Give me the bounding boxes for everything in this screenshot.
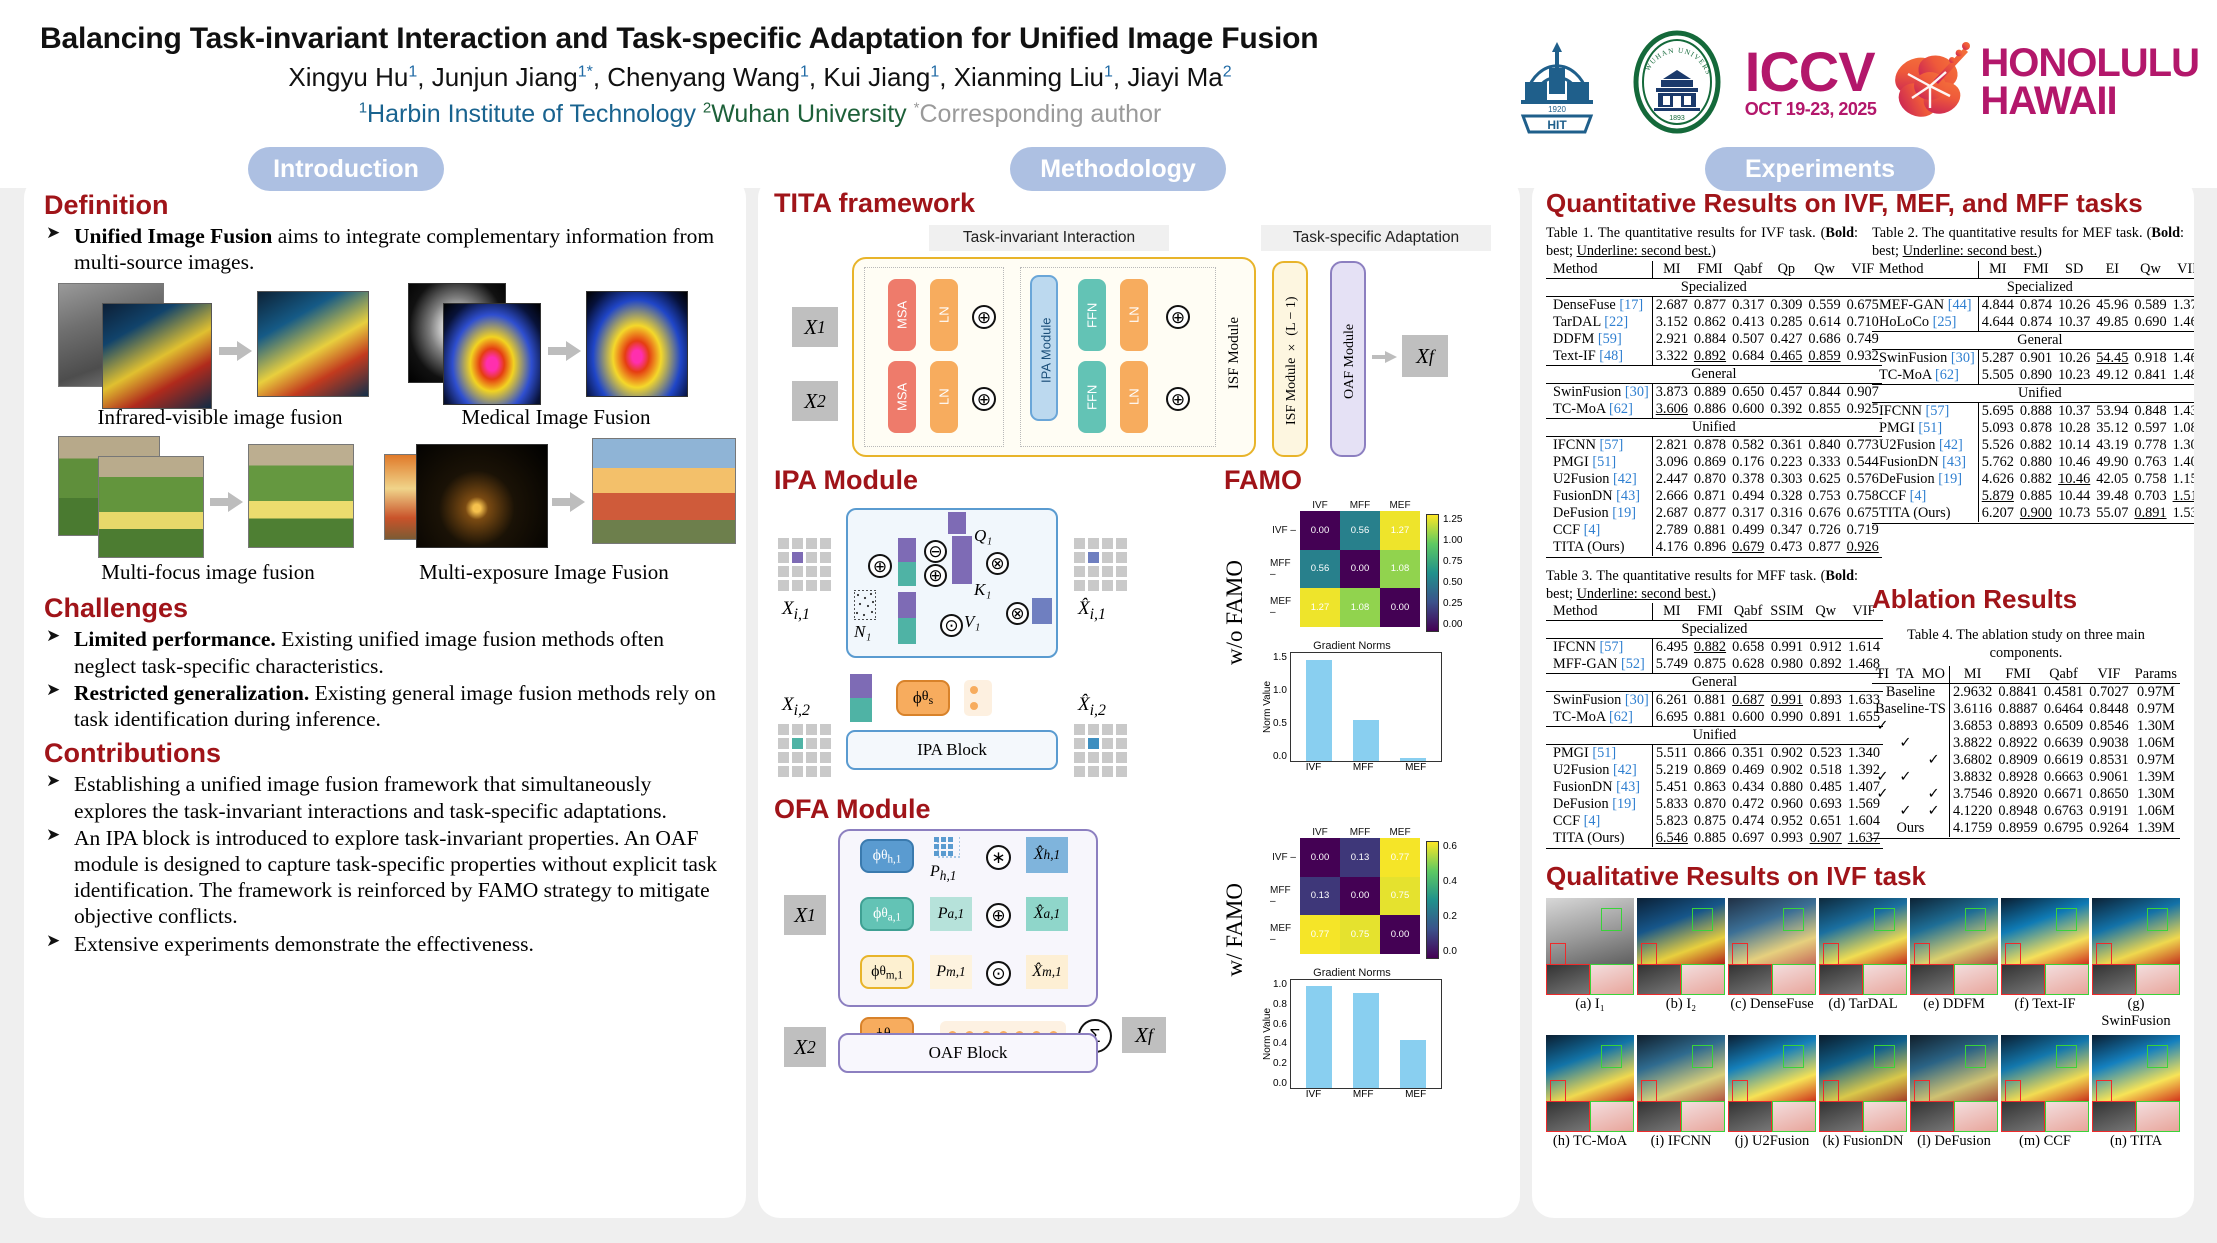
colorbar-wo-famo: 0.000.250.500.751.001.25: [1426, 514, 1462, 632]
green-roi-crop: [1681, 1101, 1725, 1132]
metric-value: 0.866: [1691, 745, 1729, 763]
add-op-ipa-2: ⊕: [924, 564, 947, 587]
metric-value: 0.882: [2017, 471, 2055, 488]
table-row: ✓3.88220.89220.66390.90381.06M: [1872, 735, 2180, 752]
method-name: TITA (Ours): [1872, 505, 1978, 522]
table-row: FusionDN [43]5.4510.8630.4340.8800.4851.…: [1546, 779, 1883, 796]
red-roi-crop: [1819, 1101, 1863, 1132]
metric-value: 0.676: [1805, 505, 1843, 522]
t1-cap-ul: Underline: second best.: [1577, 243, 1712, 259]
method-name: SwinFusion [30]: [1546, 383, 1652, 401]
noise-pattern-icon: [854, 590, 876, 620]
metric-value: 2.687: [1652, 505, 1691, 522]
metric-value: 0.8920: [1995, 786, 2040, 803]
tables-row-1: Table 1. The quantitative results for IV…: [1546, 225, 2180, 558]
label-p-m1: Pm,1: [930, 955, 972, 989]
metric-value: 0.8887: [1995, 701, 2040, 718]
qualitative-item: (k) FusionDN: [1819, 1035, 1907, 1150]
table-header-row: TITAMOMIFMIQabfVIFParams: [1872, 666, 2180, 684]
input-x1: X1: [792, 307, 838, 347]
metric-value: 0.687: [1729, 692, 1767, 710]
ipa-block-bar: IPA Block: [846, 730, 1058, 770]
tita-framework-diagram: Task-invariant Interaction Task-specific…: [774, 221, 1506, 471]
matmul-op-1: ⊗: [986, 552, 1009, 575]
affiliation-2: Wuhan University: [711, 100, 906, 128]
msa-block-bottom: MSA: [888, 361, 916, 433]
introduction-card: Definition Unified Image Fusion aims to …: [24, 176, 746, 1218]
metric-value: 1.534: [2170, 505, 2194, 522]
colorbar-gradient-w: [1426, 841, 1439, 959]
qualitative-image: [2001, 898, 2089, 995]
metric-value: 0.880: [1767, 779, 1806, 796]
mff-result-thumb: [248, 444, 354, 548]
method-name: IFCNN [57]: [1872, 402, 1978, 420]
heatmap-ytick: MFF –: [1270, 877, 1300, 916]
t2-cap-bold: Bold: [2151, 225, 2180, 241]
qualitative-item: (j) U2Fusion: [1728, 1035, 1816, 1150]
qualitative-caption: (k) FusionDN: [1819, 1133, 1907, 1150]
conv-op-h: ∗: [986, 845, 1011, 870]
qualitative-image: [1546, 1035, 1634, 1132]
metric-value: 4.1220: [1949, 803, 1995, 820]
colorbar-gradient-wo: [1426, 514, 1439, 632]
metric-value: 0.8959: [1995, 820, 2040, 837]
contributions-heading: Contributions: [44, 738, 726, 769]
barchart-w-ylabel: Norm Value: [1262, 979, 1273, 1089]
bullet-item: An IPA block is introduced to explore ta…: [44, 825, 726, 930]
msa-label-bottom: MSA: [888, 361, 916, 433]
bar-ytick: 1.5: [1273, 652, 1287, 663]
affiliation-1: Harbin Institute of Technology: [367, 100, 696, 128]
colorbar-w-famo: 0.00.20.40.6: [1426, 841, 1457, 959]
colorbar-ticks-w: 0.00.20.40.6: [1439, 841, 1457, 957]
table-row: TC-MoA [62]5.5050.89010.2349.120.8411.48…: [1872, 367, 2194, 385]
metric-value: 0.703: [2131, 488, 2169, 505]
svg-text:HIT: HIT: [1547, 118, 1567, 132]
table-row: U2Fusion [42]2.4470.8700.3780.3030.6250.…: [1546, 471, 1882, 488]
kernel-grid-icon: [934, 837, 960, 863]
group-label: Specialized: [1546, 621, 1883, 639]
qualitative-caption: (n) TITA: [2092, 1133, 2180, 1150]
bar: [1400, 758, 1426, 761]
bar-ytick: 0.5: [1273, 718, 1287, 729]
metric-value: 0.902: [1767, 762, 1806, 779]
group-label: General: [1872, 331, 2194, 349]
colorbar-tick: 0.00: [1443, 619, 1462, 630]
colorbar-tick: 0.25: [1443, 598, 1462, 609]
out-xhat-m1: X̂m,1: [1026, 955, 1068, 989]
metric-value: 0.991: [1767, 692, 1806, 710]
metric-value: 55.07: [2093, 505, 2131, 522]
method-name: CCF [4]: [1872, 488, 1978, 505]
input-x2: X2: [792, 381, 838, 421]
col-header: MI: [1652, 603, 1691, 621]
metric-value: 5.505: [1978, 367, 2017, 385]
metric-value: 39.48: [2093, 488, 2131, 505]
qualitative-image: [1637, 1035, 1725, 1132]
metric-value: 0.6671: [2041, 786, 2086, 803]
bar: [1306, 660, 1332, 761]
qualitative-item: (l) DeFusion: [1910, 1035, 1998, 1150]
group-label: Unified: [1546, 727, 1883, 745]
metric-value: 0.885: [1691, 830, 1729, 847]
metric-value: 0.881: [1691, 709, 1729, 727]
metric-value: 0.427: [1767, 331, 1805, 348]
arrow-to-output-icon: [1372, 349, 1398, 365]
method-name: Text-IF [48]: [1546, 348, 1652, 366]
metric-value: 1.39M: [2132, 820, 2180, 837]
table-row: CCF [4]5.8230.8750.4740.9520.6511.604: [1546, 813, 1883, 830]
metric-value: 0.912: [1807, 639, 1845, 657]
metric-value: 10.28: [2055, 420, 2093, 437]
metric-value: 49.85: [2093, 314, 2131, 332]
heatmap-cell: 0.77: [1300, 915, 1340, 954]
metric-value: 0.878: [2017, 420, 2055, 437]
ablation-wrapper: Ablation Results Table 4. The ablation s…: [1872, 568, 2180, 850]
barchart-wo-yticks: 0.00.51.01.5: [1273, 652, 1290, 762]
ffn-label-top: FFN: [1078, 279, 1106, 351]
ti-check: [1872, 735, 1893, 752]
heatmap-ytick: MEF –: [1270, 588, 1300, 627]
metric-value: 3.322: [1652, 348, 1691, 366]
metric-value: 54.45: [2093, 349, 2131, 367]
heatmap-cell: 0.75: [1380, 877, 1420, 916]
method-name: TC-MoA [62]: [1546, 401, 1652, 419]
metric-value: 10.46: [2055, 454, 2093, 471]
metric-value: 0.778: [2131, 437, 2169, 454]
ta-check: [1893, 786, 1918, 803]
metric-value: 0.896: [1691, 539, 1729, 556]
table-row: TITA (Ours)6.2070.90010.7355.070.8911.53…: [1872, 505, 2194, 522]
metric-value: 0.6464: [2041, 701, 2086, 718]
ofa-module-diagram: X1 X2 ϕθh,1 Ph,1 ∗ X̂h,1 ϕθa,1 Pa,1 ⊕ X̂…: [774, 827, 1226, 1077]
mo-check: ✓: [1918, 786, 1949, 803]
metric-value: 0.886: [1691, 401, 1729, 419]
feature-grid-icon-in2: [778, 724, 832, 778]
challenges-bullets: Limited performance. Existing unified im…: [44, 626, 726, 732]
barchart-wo-bars: [1290, 652, 1442, 762]
table-row: ✓3.68530.88930.65090.85461.30M: [1872, 718, 2180, 735]
method-name: U2Fusion [42]: [1546, 471, 1652, 488]
heatmap-cell: 0.13: [1300, 877, 1340, 916]
method-name: TC-MoA [62]: [1872, 367, 1978, 385]
red-roi-crop: [1637, 964, 1681, 995]
bar-xtick: MEF: [1405, 1089, 1426, 1100]
author-4: Kui Jiang1,: [823, 62, 953, 92]
metric-value: 3.6853: [1949, 718, 1995, 735]
metric-value: 2.687: [1652, 296, 1691, 314]
method-name: DeFusion [19]: [1872, 471, 1978, 488]
group-header-row: General: [1546, 674, 1883, 692]
ta-check: ✓: [1893, 769, 1918, 786]
table-row: TarDAL [22]3.1520.8620.4130.2850.6140.71…: [1546, 314, 1882, 331]
table-row: PMGI [51]5.0930.87810.2835.120.5971.086: [1872, 420, 2194, 437]
col-header: Params: [2132, 666, 2180, 684]
col-header: FMI: [1995, 666, 2040, 684]
red-roi-crop: [2092, 1101, 2136, 1132]
colorbar-tick: 0.50: [1443, 577, 1462, 588]
table-row: PMGI [51]3.0960.8690.1760.2230.3330.544: [1546, 454, 1882, 471]
metric-value: 0.882: [2017, 437, 2055, 454]
ta-check: ✓: [1893, 735, 1918, 752]
label-xhat-i2: X̂i,2: [1078, 694, 1106, 720]
section-pill-methodology: Methodology: [1010, 147, 1226, 191]
bar-ytick: 0.0: [1273, 751, 1287, 762]
metric-value: 0.907: [1807, 830, 1845, 847]
metric-value: 0.892: [1807, 656, 1845, 674]
method-name: DenseFuse [17]: [1546, 296, 1652, 314]
ta-check: [1893, 718, 1918, 735]
mff-source-b-thumb: [98, 456, 204, 558]
metric-value: 0.902: [1767, 745, 1806, 763]
metric-value: 0.855: [1805, 401, 1843, 419]
qualitative-caption: (a) I₁: [1546, 996, 1634, 1013]
caption-mff: Multi-focus image fusion: [44, 560, 372, 585]
bar: [1353, 720, 1379, 761]
metric-value: 6.261: [1652, 692, 1691, 710]
metric-value: 6.695: [1652, 709, 1691, 727]
metric-value: 6.207: [1978, 505, 2017, 522]
ffn-block-bottom: FFN: [1078, 361, 1106, 433]
bar: [1353, 993, 1379, 1088]
colorbar-ticks-wo: 0.000.250.500.751.001.25: [1439, 514, 1462, 630]
green-roi-crop: [2045, 1101, 2089, 1132]
ffn-block-top: FFN: [1078, 279, 1106, 351]
metric-value: 0.317: [1729, 505, 1767, 522]
famo-wo-panel: w/o FAMO IVFMFFMEF IVF –MFF –MEF – 0.000…: [1226, 498, 1504, 788]
col-header: VIF: [2170, 261, 2194, 279]
red-roi-crop: [2001, 1101, 2045, 1132]
bullet-item: Unified Image Fusion aims to integrate c…: [44, 223, 726, 275]
iccv-wordmark: ICCV OCT 19-23, 2025: [1745, 46, 1877, 117]
bar: [1306, 986, 1332, 1088]
metric-value: 0.893: [1807, 692, 1845, 710]
oaf-module-label: OAF Module: [1332, 263, 1368, 459]
method-name: DDFM [59]: [1546, 331, 1652, 348]
token-purple-b: [898, 592, 916, 618]
qualitative-item: (g) SwinFusion: [2092, 898, 2180, 1030]
ti-check: [1872, 752, 1893, 769]
col-header: TA: [1893, 666, 1918, 684]
col-header: MO: [1918, 666, 1949, 684]
qualitative-caption: (e) DDFM: [1910, 996, 1998, 1013]
method-name: FusionDN [43]: [1546, 488, 1652, 505]
colorbar-tick: 1.25: [1443, 514, 1462, 525]
metric-value: 0.889: [1691, 383, 1729, 401]
metric-value: 0.9038: [2086, 735, 2131, 752]
mo-check: ✓: [1918, 752, 1949, 769]
method-name: SwinFusion [30]: [1872, 349, 1978, 367]
label-k1: K₁: [974, 580, 991, 600]
metric-value: 5.511: [1652, 745, 1691, 763]
definition-heading: Definition: [44, 190, 726, 221]
metric-value: 0.351: [1729, 745, 1767, 763]
t3-cap-ul: Underline: second best.: [1577, 586, 1712, 602]
metric-value: 0.434: [1729, 779, 1767, 796]
metric-value: 0.507: [1729, 331, 1767, 348]
heatmap-cell: 1.27: [1300, 588, 1340, 627]
table-row: DeFusion [19]5.8330.8700.4720.9600.6931.…: [1546, 796, 1883, 813]
colorbar-tick: 0.0: [1443, 946, 1457, 957]
metric-value: 4.626: [1978, 471, 2017, 488]
metric-value: 43.19: [2093, 437, 2131, 454]
metric-value: 3.152: [1652, 314, 1691, 331]
heatmap-wo-yticks: IVF –MFF –MEF –: [1270, 511, 1300, 627]
metric-value: 10.73: [2055, 505, 2093, 522]
orange-dot-1: [970, 686, 978, 694]
metric-value: 2.666: [1652, 488, 1691, 505]
barchart-wo-title: Gradient Norms: [1262, 640, 1442, 652]
metric-value: 0.991: [1767, 639, 1806, 657]
metric-value: 0.8909: [1995, 752, 2040, 769]
label-p-h1: Ph,1: [930, 863, 956, 884]
col-header: FMI: [2017, 261, 2055, 279]
metric-value: 0.523: [1807, 745, 1845, 763]
metric-value: 0.882: [1691, 639, 1729, 657]
barchart-w-title: Gradient Norms: [1262, 967, 1442, 979]
poster-root: Balancing Task-invariant Interaction and…: [0, 0, 2217, 1243]
band-task-specific-adaptation: Task-specific Adaptation: [1261, 225, 1491, 251]
green-roi-box: [1965, 908, 1986, 931]
metric-value: 1.06M: [2132, 735, 2180, 752]
table2-wrapper: Table 2. The quantitative results for ME…: [1872, 225, 2184, 558]
ipa-famo-row: Xi,1 Xi,2 ⊕ ⊖ ⊕ Q₁ K₁: [774, 498, 1506, 788]
green-roi-crop: [1590, 1101, 1634, 1132]
metric-value: 10.37: [2055, 314, 2093, 332]
bar-xtick: MFF: [1353, 1089, 1374, 1100]
label-p-a1: Pa,1: [930, 897, 972, 931]
metric-value: 0.392: [1767, 401, 1805, 419]
metric-value: 5.879: [1978, 488, 2017, 505]
metric-value: 0.690: [2131, 314, 2169, 332]
col-header: MI: [1652, 261, 1691, 279]
heatmap-xtick: IVF: [1300, 500, 1340, 511]
metric-value: 0.8650: [2086, 786, 2131, 803]
metric-value: 0.980: [1767, 656, 1806, 674]
metric-value: 0.6795: [2041, 820, 2086, 837]
metric-value: 0.763: [2131, 454, 2169, 471]
author-3: Chenyang Wang1,: [607, 62, 823, 92]
metric-value: 0.918: [2131, 349, 2169, 367]
metric-value: 2.821: [1652, 436, 1691, 454]
group-header-row: General: [1872, 331, 2194, 349]
honolulu-hawaii-wordmark: HONOLULU HAWAII: [1980, 44, 2199, 120]
metric-value: 0.874: [2017, 296, 2055, 314]
qualitative-image: [1819, 898, 1907, 995]
wuhan-university-logo-icon: WUHAN UNIVERSITY 1893: [1625, 30, 1729, 134]
method-name: TC-MoA [62]: [1546, 709, 1652, 727]
token-out: [1032, 598, 1052, 624]
out-xhat-a1: X̂a,1: [1026, 897, 1068, 931]
method-name: MEF-GAN [44]: [1872, 296, 1978, 314]
metric-value: 1.403: [2170, 454, 2194, 471]
metric-value: 0.960: [1767, 796, 1806, 813]
table-row: U2Fusion [42]5.2190.8690.4690.9020.5181.…: [1546, 762, 1883, 779]
ivf-result-thumb: [257, 291, 369, 397]
colorbar-tick: 1.00: [1443, 535, 1462, 546]
col-header: VIF: [2086, 666, 2131, 684]
intro-figure-row-1: [44, 281, 726, 409]
table3-caption: Table 3. The quantitative results for MF…: [1546, 568, 1858, 604]
metric-value: 3.096: [1652, 454, 1691, 471]
metric-value: 0.870: [1691, 471, 1729, 488]
mo-check: [1918, 735, 1949, 752]
qualitative-item: (h) TC-MoA: [1546, 1035, 1634, 1150]
table-row: CCF [4]2.7890.8810.4990.3470.7260.719: [1546, 522, 1882, 539]
metric-value: 0.686: [1805, 331, 1843, 348]
green-roi-crop: [1954, 1101, 1998, 1132]
method-name: U2Fusion [42]: [1872, 437, 1978, 454]
metric-value: 10.26: [2055, 296, 2093, 314]
label-n1: N₁: [854, 622, 871, 642]
token-purple-a: [898, 538, 916, 562]
metric-value: 5.833: [1652, 796, 1691, 813]
qualitative-item: (a) I₁: [1546, 898, 1634, 1030]
bar-ytick: 0.0: [1273, 1078, 1287, 1089]
heatmap-cell: 1.08: [1340, 588, 1380, 627]
metric-value: 0.753: [1805, 488, 1843, 505]
method-name: MFF-GAN [52]: [1546, 656, 1652, 674]
group-header-row: Specialized: [1546, 621, 1883, 639]
heatmap-cell: 0.56: [1300, 550, 1340, 589]
hawaii-label: HAWAII: [1980, 82, 2199, 120]
ofa-famo-row: X1 X2 ϕθh,1 Ph,1 ∗ X̂h,1 ϕθa,1 Pa,1 ⊕ X̂…: [774, 827, 1506, 1077]
green-roi-box: [2056, 908, 2077, 931]
table-row: ✓✓4.12200.89480.67630.91911.06M: [1872, 803, 2180, 820]
token-teal-b: [898, 618, 916, 644]
heatmap-wo-xticks: IVFMFFMEF: [1270, 500, 1420, 511]
metric-value: 3.606: [1652, 401, 1691, 419]
table-row: TITA (Ours)4.1760.8960.6790.4730.8770.92…: [1546, 539, 1882, 556]
metric-value: 0.891: [1807, 709, 1845, 727]
metric-value: 42.05: [2093, 471, 2131, 488]
qualitative-caption: (m) CCF: [2001, 1133, 2089, 1150]
token-purple-c: [850, 674, 872, 698]
table-header-row: MethodMIFMISDEIQwVIF: [1872, 261, 2194, 279]
corresponding-author-note: Corresponding author: [919, 100, 1161, 128]
group-label: Specialized: [1872, 278, 2194, 296]
bar-xtick: MFF: [1353, 762, 1374, 773]
col-header: FMI: [1691, 603, 1729, 621]
metric-value: 2.789: [1652, 522, 1691, 539]
metric-value: 5.451: [1652, 779, 1691, 796]
metric-value: 0.6763: [2041, 803, 2086, 820]
section-pill-introduction: Introduction: [248, 147, 444, 191]
table-row: TC-MoA [62]6.6950.8810.6000.9900.8911.65…: [1546, 709, 1883, 727]
add-op-top-1: ⊕: [972, 305, 996, 329]
contributions-bullets: Establishing a unified image fusion fram…: [44, 771, 726, 957]
arrow-right-icon-2: [548, 339, 582, 363]
method-name: FusionDN [43]: [1546, 779, 1652, 796]
metric-value: 0.875: [1691, 656, 1729, 674]
table1-wrapper: Table 1. The quantitative results for IV…: [1546, 225, 1858, 558]
qualitative-caption: (l) DeFusion: [1910, 1133, 1998, 1150]
barchart-w-yticks: 0.00.20.40.60.81.0: [1273, 979, 1290, 1089]
metric-value: 0.4581: [2041, 684, 2086, 702]
isf-repeat-label: ISF Module × (L − 1): [1274, 263, 1310, 459]
metric-value: 0.413: [1729, 314, 1767, 331]
metric-value: 5.823: [1652, 813, 1691, 830]
metric-value: 0.223: [1767, 454, 1805, 471]
metric-value: 0.8928: [1995, 769, 2040, 786]
bar-xtick: IVF: [1306, 1089, 1322, 1100]
metric-value: 0.990: [1767, 709, 1806, 727]
metric-value: 0.465: [1767, 348, 1805, 366]
method-name: PMGI [51]: [1546, 745, 1652, 763]
metric-value: 0.8546: [2086, 718, 2131, 735]
bar-ytick: 0.8: [1273, 999, 1287, 1010]
t2-cap-ul: Underline: second best.: [1903, 243, 2038, 259]
